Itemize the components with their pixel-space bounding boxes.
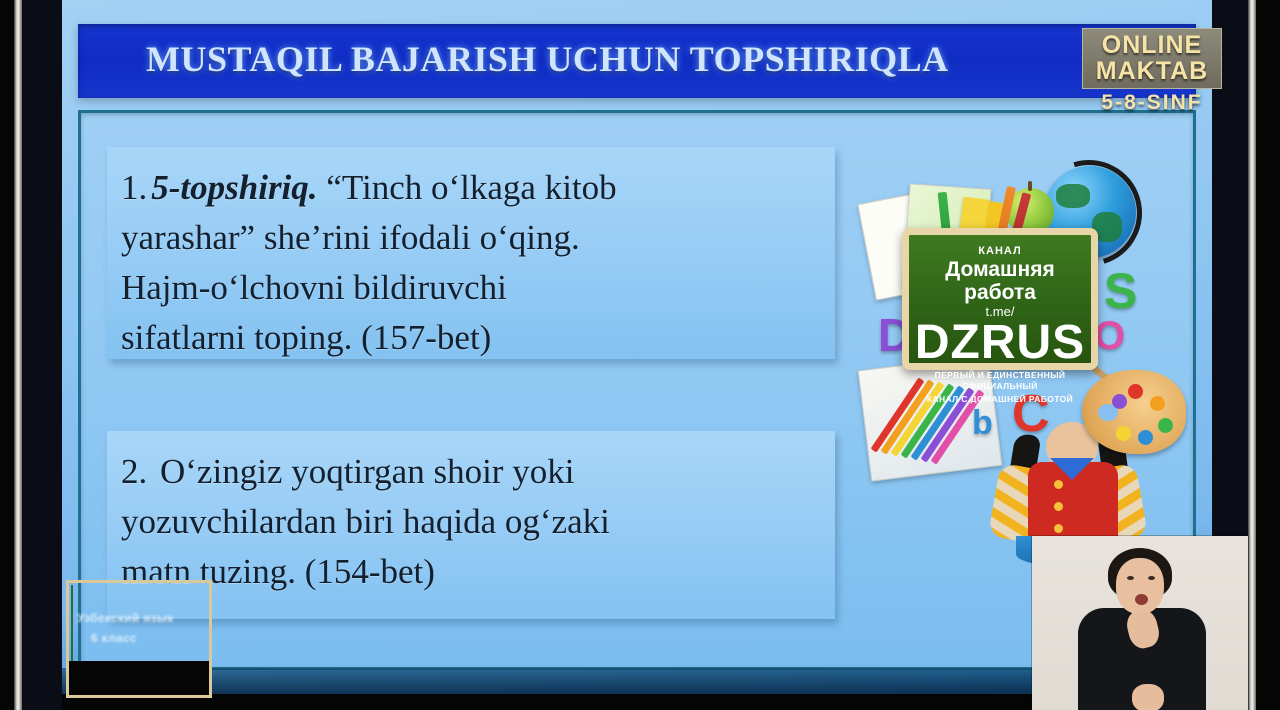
task-line: Hajm-o‘lchovni bildiruvchi [121,263,817,313]
logo-line-maktab: MAKTAB [1087,58,1217,84]
letter-o-icon: O [1094,314,1125,359]
task-line: sifatlarni toping. (157-bet) [121,313,817,363]
task-text: “Tinch o‘lkaga kitob [318,168,617,207]
task-line: 2. O‘zingiz yoqtirgan shoir yoki [121,447,817,497]
bezel-left [22,0,62,710]
task-number: 1. [121,168,147,207]
slide-title: MUSTAQIL BAJARISH UCHUN TOPSHIRIQLA [146,38,949,80]
task-line: yozuvchilardan biri haqida og‘zaki [121,497,817,547]
task-item-1: 1.5-topshiriq. “Tinch o‘lkaga kitob yara… [107,147,835,359]
dzrus-sticker-graphic: D S O C b КАНАЛ Домашняя работа t.me/ DZ… [846,158,1186,508]
letter-s-icon: S [1104,262,1137,320]
logo-grade-range: 5-8-SINF [1082,91,1222,115]
slide-title-bar: MUSTAQIL BAJARISH UCHUN TOPSHIRIQLA [78,24,1196,98]
interpreter-eye-right [1148,576,1155,580]
chalkboard-tagline-2: КАНАЛ С ДОМАШНЕЙ РАБОТОЙ [909,394,1091,405]
task-line: yarashar” she’rini ifodali o‘qing. [121,213,817,263]
watermark-bottom-fill [69,661,209,695]
logo-plate: ONLINE MAKTAB [1082,28,1222,89]
interpreter-hand-lower [1132,684,1164,710]
task-number: 2. [121,452,147,491]
letter-c-icon: C [1012,384,1050,444]
task-text: O‘zingiz yoqtirgan shoir yoki [151,452,574,491]
task-line: matn tuzing. (154-bet) [121,547,817,597]
bezel-strip-right [1248,0,1256,710]
video-frame: MUSTAQIL BAJARISH UCHUN TOPSHIRIQLA 1.5-… [0,0,1280,710]
task-line: 1.5-topshiriq. “Tinch o‘lkaga kitob [121,163,817,213]
interpreter-eye-left [1127,576,1134,580]
watermark-subject: Узбекский язык [77,611,174,625]
task-label: 5-topshiriq. [151,168,317,207]
bezel-strip-left [14,0,22,710]
task-item-2: 2. O‘zingiz yoqtirgan shoir yoki yozuvch… [107,431,835,619]
chalkboard-tagline-1: ПЕРВЫЙ И ЕДИНСТВЕННЫЙ ОФИЦИАЛЬНЫЙ [909,370,1091,392]
logo-line-online: ONLINE [1087,32,1217,58]
online-maktab-logo: ONLINE MAKTAB 5-8-SINF [1082,28,1222,115]
sign-language-interpreter-pip [1032,536,1248,710]
interpreter-face [1116,558,1164,614]
chalkboard-channel-name: Домашняя работа [909,258,1091,304]
letter-b-icon: b [972,404,993,443]
interpreter-mouth [1135,594,1148,605]
watermark-grade: 6 класс [91,631,137,645]
paint-palette-icon [1082,370,1186,454]
dzrus-chalkboard: КАНАЛ Домашняя работа t.me/ DZRUS ПЕРВЫЙ… [902,228,1098,370]
chalkboard-handle: DZRUS [909,318,1091,368]
subject-watermark-box: Узбекский язык 6 класс [66,580,212,698]
chalkboard-kanal-label: КАНАЛ [909,245,1091,257]
